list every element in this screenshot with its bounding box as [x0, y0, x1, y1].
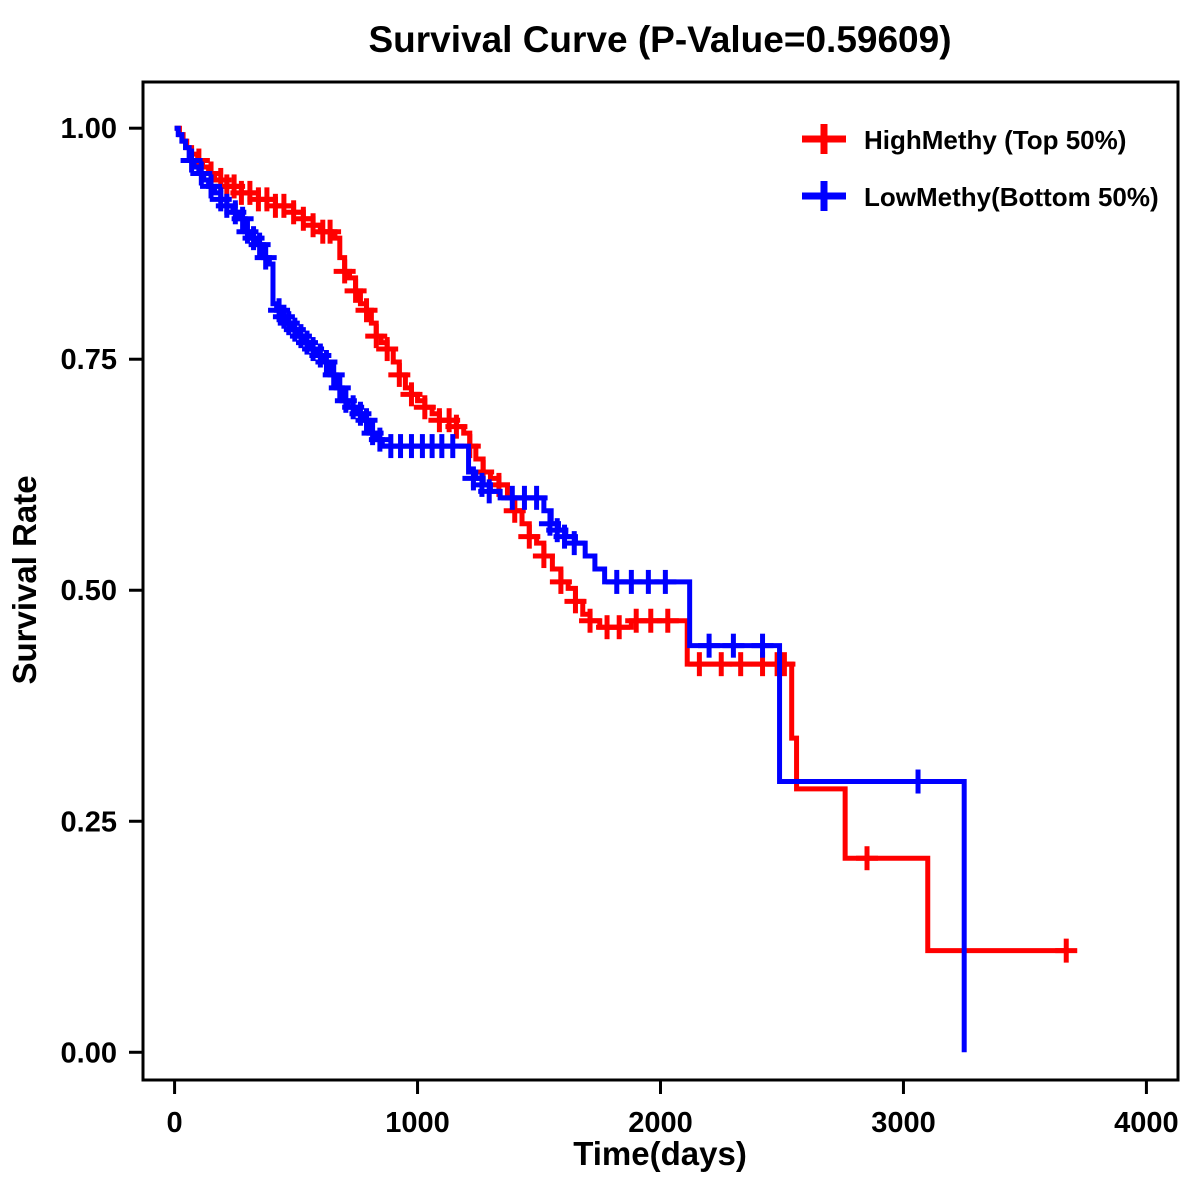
chart-title: Survival Curve (P-Value=0.59609) [368, 19, 951, 60]
y-tick-label-0.25: 0.25 [61, 806, 117, 838]
x-axis-title: Time(days) [573, 1135, 747, 1172]
legend-label: LowMethy(Bottom 50%) [864, 182, 1159, 212]
survival-curve-chart: Survival Curve (P-Value=0.59609) 0100020… [0, 0, 1200, 1200]
chart-page: Survival Curve (P-Value=0.59609) 0100020… [0, 0, 1200, 1200]
y-tick-label-1.00: 1.00 [61, 113, 117, 145]
x-tick-label-0: 0 [167, 1107, 183, 1139]
y-axis-title: Survival Rate [6, 475, 43, 684]
y-tick-label-0.50: 0.50 [61, 575, 117, 607]
x-tick-label-4000: 4000 [1114, 1107, 1179, 1139]
x-tick-label-3000: 3000 [871, 1107, 936, 1139]
x-tick-label-1000: 1000 [385, 1107, 450, 1139]
y-tick-label-0.00: 0.00 [61, 1037, 117, 1069]
y-tick-label-0.75: 0.75 [61, 344, 117, 376]
legend-label: HighMethy (Top 50%) [864, 125, 1126, 155]
chart-background [0, 0, 1200, 1200]
